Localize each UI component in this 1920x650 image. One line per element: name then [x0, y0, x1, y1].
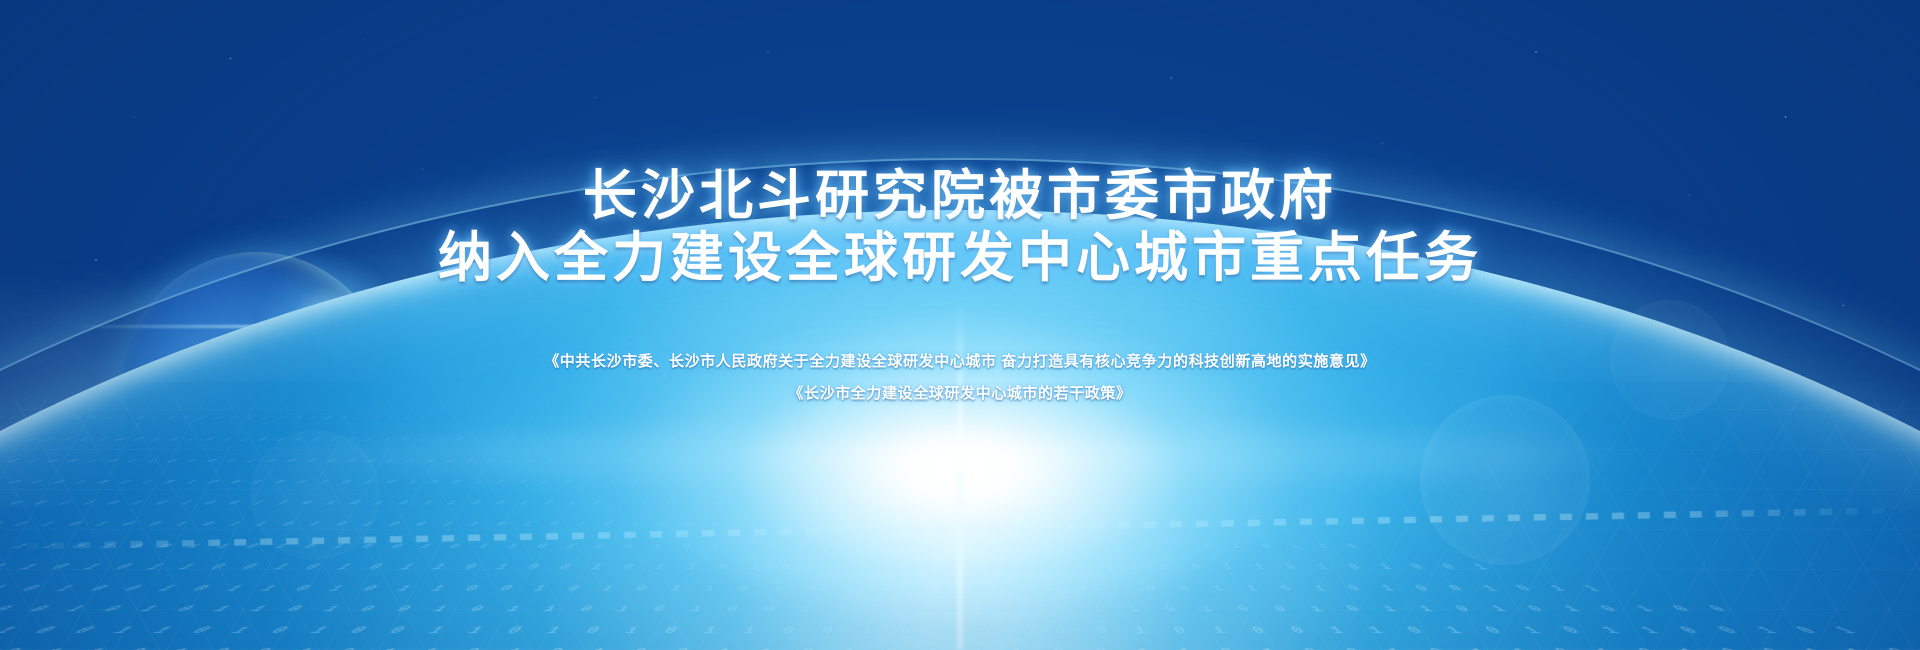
hero-banner: 0 1 0 1 1 0 0 1 0 1 0 1 1 0 1 0 0 1 1 0 … — [0, 0, 1920, 650]
banner-subtitle-policy-opinion: 《中共长沙市委、长沙市人民政府关于全力建设全球研发中心城市 奋力打造具有核心竞争… — [0, 350, 1920, 371]
banner-subtitle-policy-measures: 《长沙市全力建设全球研发中心城市的若干政策》 — [0, 382, 1920, 403]
banner-title-line-2: 纳入全力建设全球研发中心城市重点任务 — [0, 224, 1920, 292]
banner-title-line-1: 长沙北斗研究院被市委市政府 — [0, 162, 1920, 230]
